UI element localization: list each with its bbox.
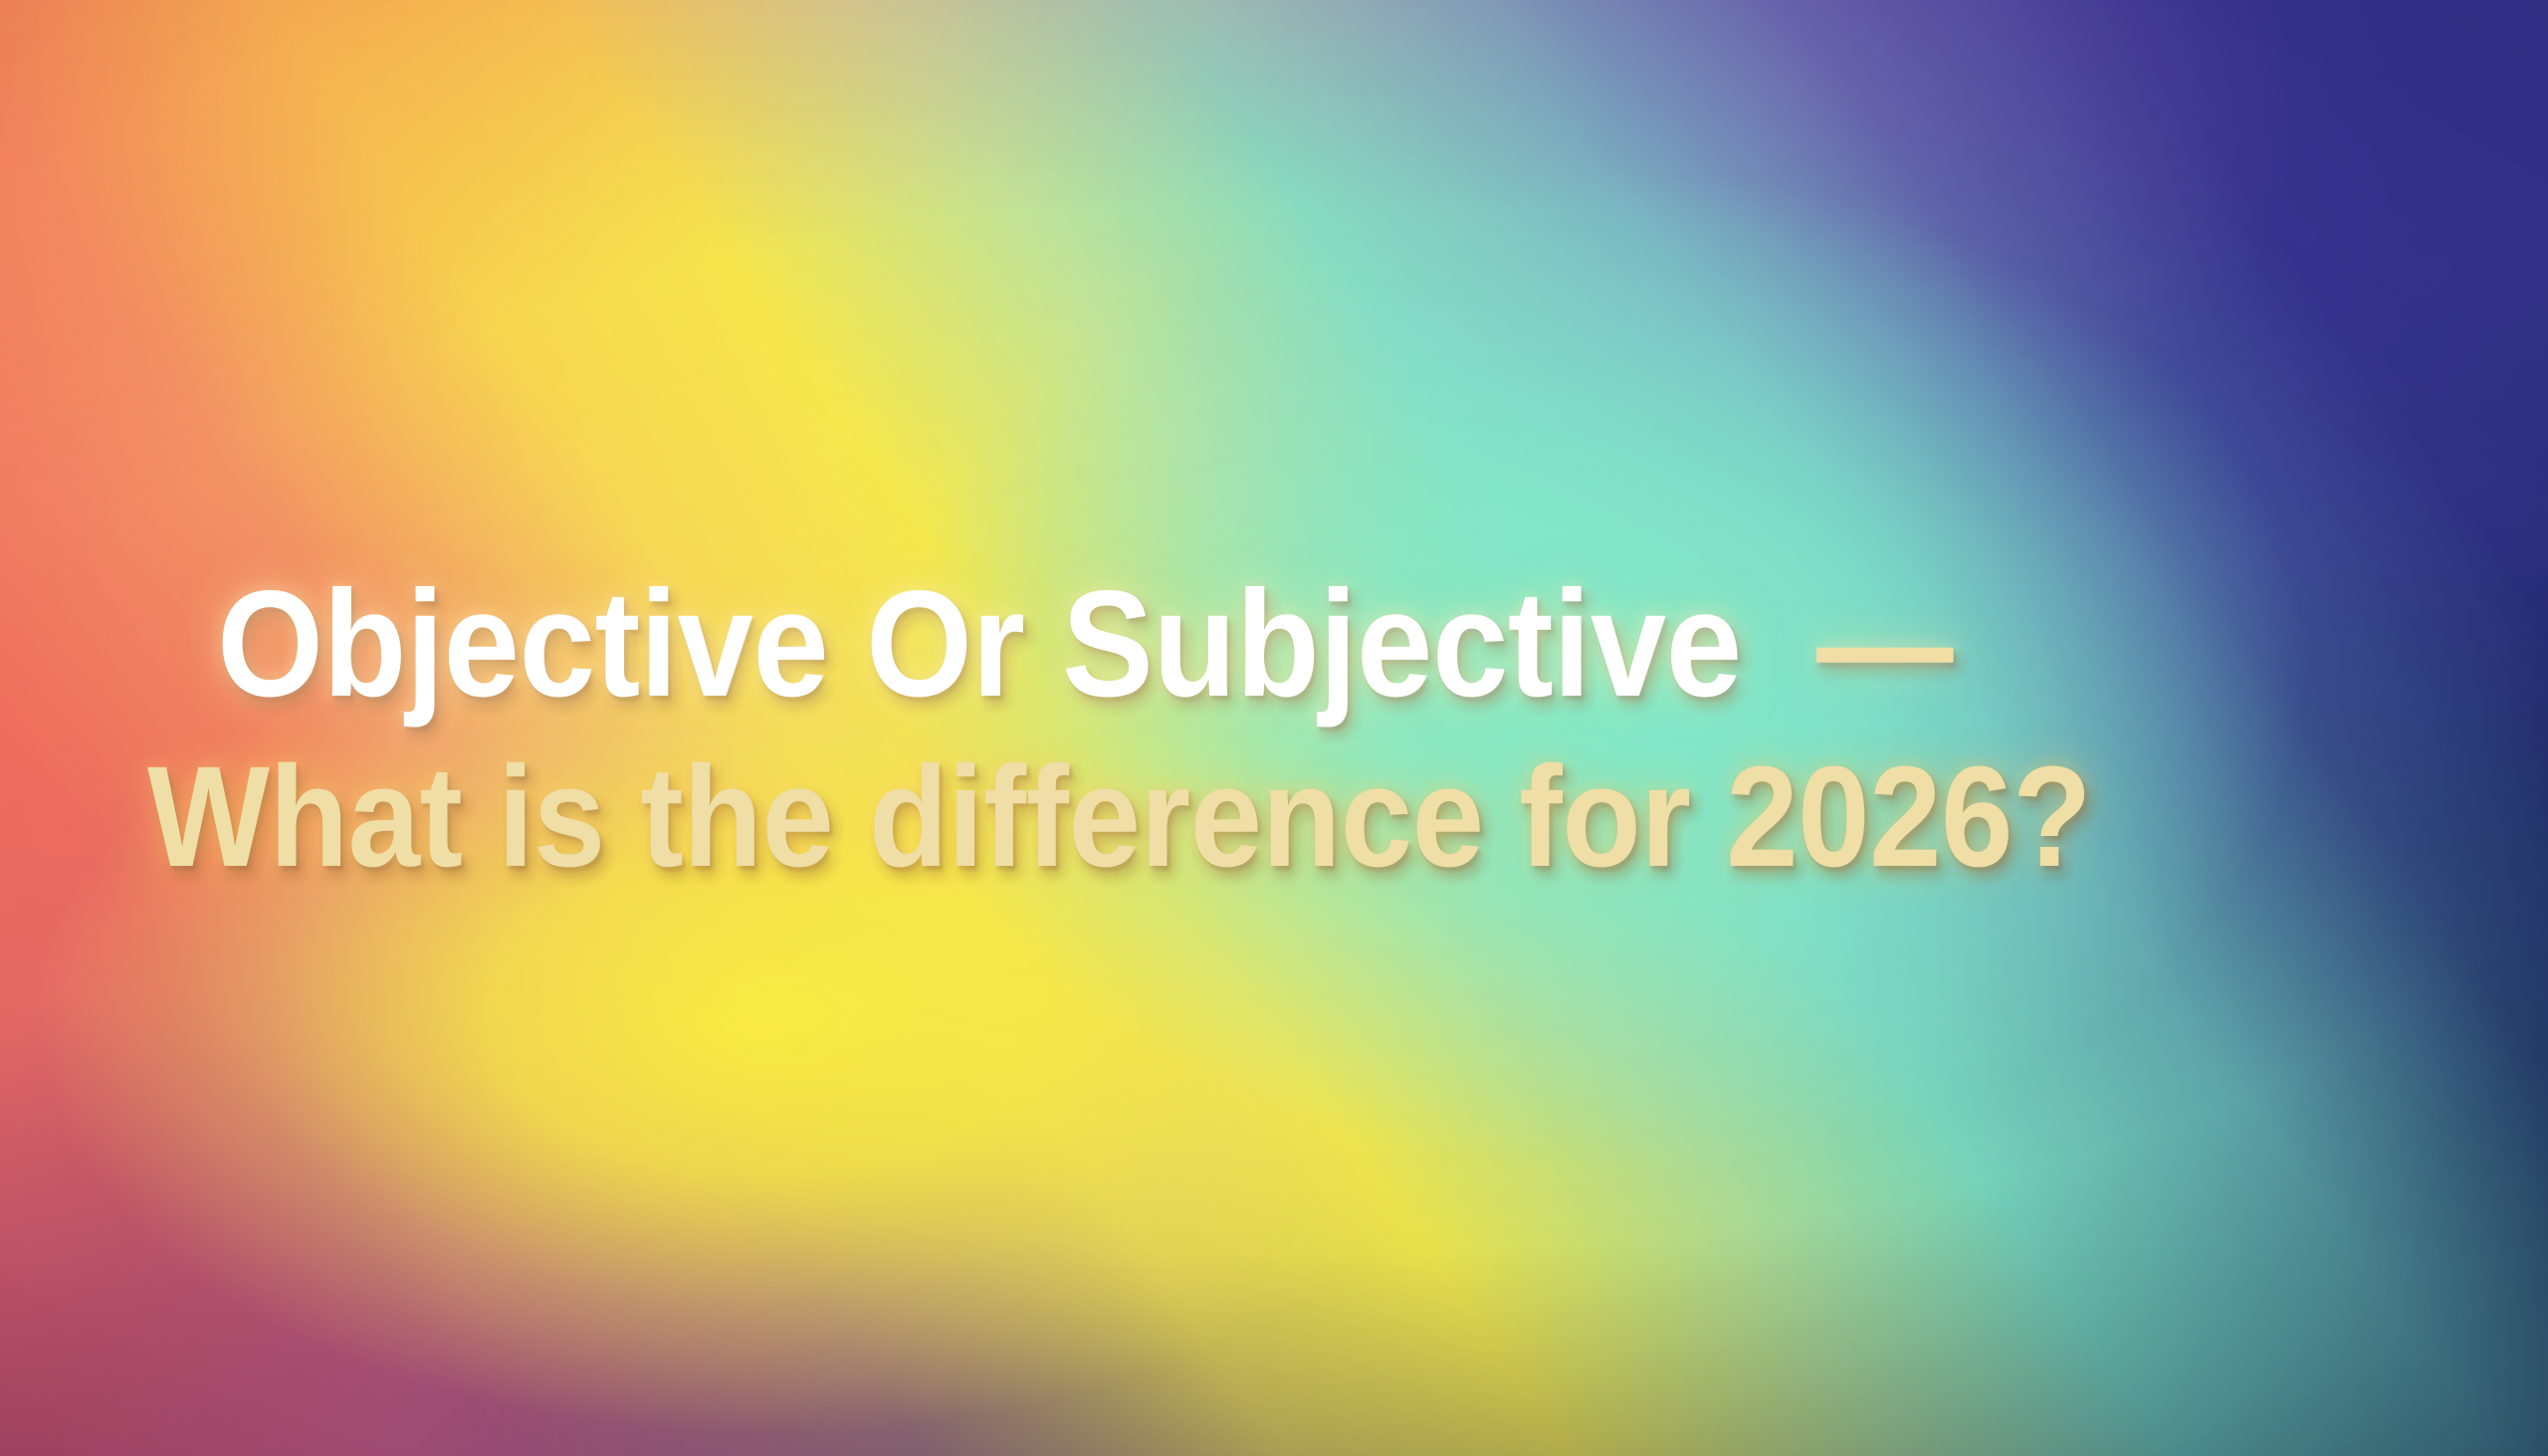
title-card-canvas: Objective Or Subjective — What is the di… xyxy=(0,0,2548,1456)
em-dash-glyph: — xyxy=(1742,559,1953,728)
headline-line-1-text: Objective Or Subjective xyxy=(217,559,1742,728)
headline-line-1: Objective Or Subjective — xyxy=(217,568,2327,720)
headline-line-2: What is the difference for 2026? xyxy=(147,745,2320,889)
headline-block: Objective Or Subjective — What is the di… xyxy=(0,0,2548,1456)
